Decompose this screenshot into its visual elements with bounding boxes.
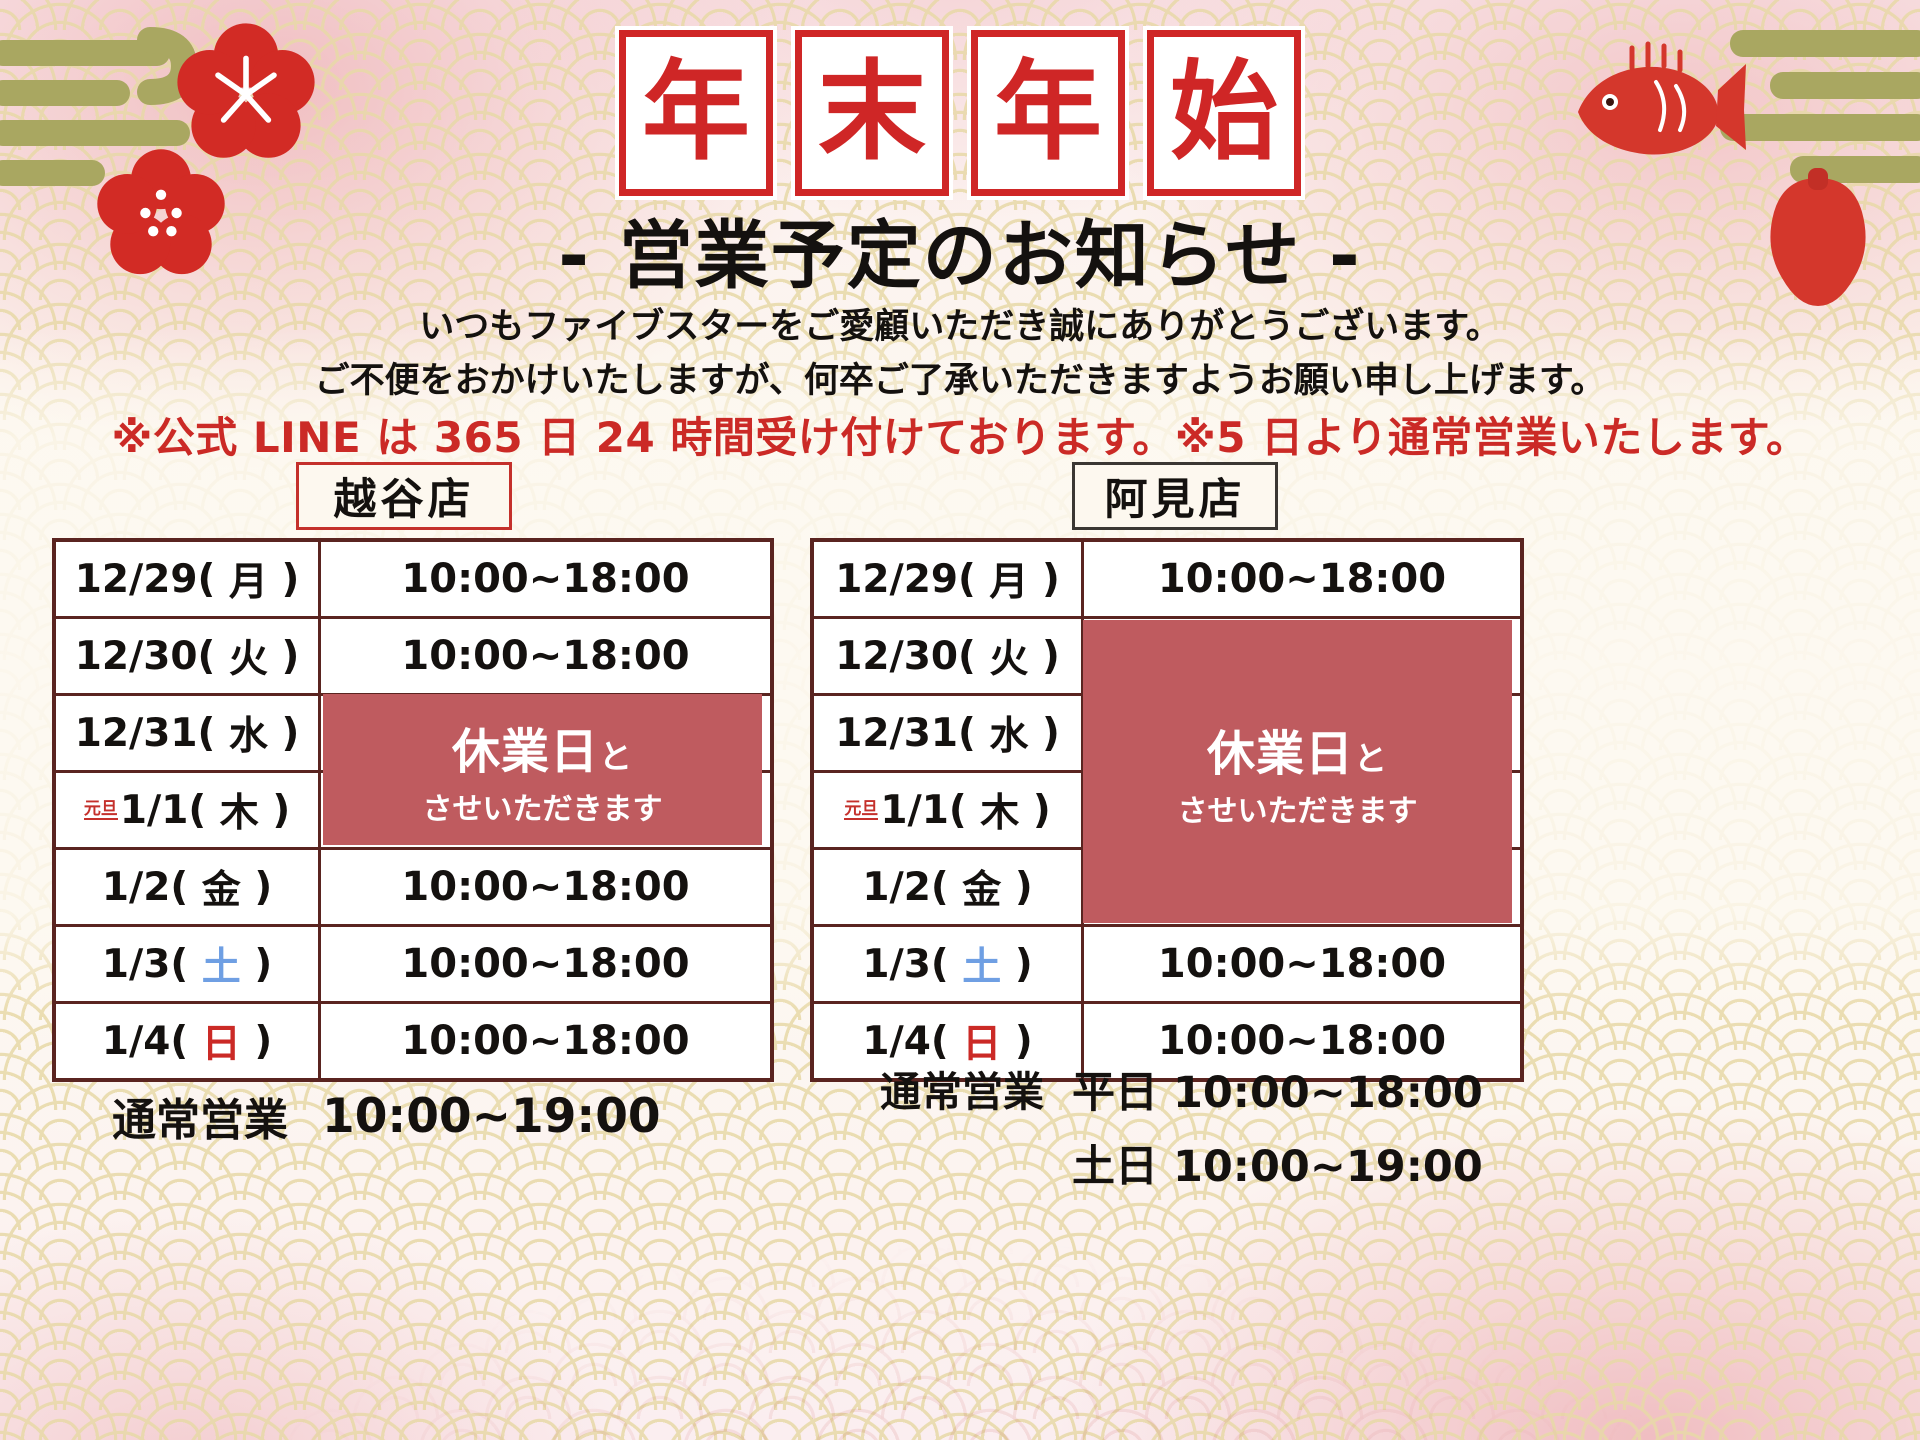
poster-title: 年 末 年 始 bbox=[0, 30, 1920, 196]
closed-sub-text: させいただきます bbox=[423, 784, 663, 828]
title-kanji-1: 年 bbox=[619, 30, 773, 196]
schedule-date-cell: 12/29( 月 ) bbox=[56, 542, 321, 616]
weekday-text: 火 bbox=[989, 628, 1028, 684]
date-text: 1/4 bbox=[862, 1019, 931, 1064]
schedule-hours-cell: 10:00~18:00 bbox=[321, 619, 770, 693]
footer-koshigaya: 通常営業 10:00~19:00 bbox=[112, 1084, 661, 1148]
gantan-badge: 元旦 bbox=[84, 801, 118, 820]
schedule-hours-cell: 10:00~18:00 bbox=[321, 542, 770, 616]
title-kanji-4-text: 始 bbox=[1170, 59, 1278, 167]
table-row: 1/3( 土 ) 10:00~18:00 bbox=[56, 927, 770, 1004]
date-text: 12/29 bbox=[835, 557, 958, 602]
schedule-date-cell: 1/3( 土 ) bbox=[814, 927, 1084, 1001]
schedule-date-cell: 12/31( 水 ) bbox=[814, 696, 1084, 770]
closed-sub-text: させいただきます bbox=[1178, 786, 1418, 830]
title-kanji-1-text: 年 bbox=[642, 59, 750, 167]
date-text: 12/29 bbox=[75, 557, 198, 602]
weekday-text: 木 bbox=[220, 782, 259, 838]
date-text: 1/2 bbox=[862, 865, 931, 910]
weekday-text: 土 bbox=[962, 936, 1001, 992]
date-text: 1/1 bbox=[120, 788, 189, 833]
weekday-text: 火 bbox=[229, 628, 268, 684]
date-text: 1/2 bbox=[102, 865, 171, 910]
weekday-text: 金 bbox=[962, 859, 1001, 915]
schedule-date-cell: 12/30( 火 ) bbox=[56, 619, 321, 693]
closed-main-label: 休業日 bbox=[1207, 726, 1354, 782]
weekday-text: 水 bbox=[989, 705, 1028, 761]
line-notice: ※公式 LINE は 365 日 24 時間受け付けております。※5 日より通常… bbox=[0, 404, 1920, 465]
schedule-hours-cell: 10:00~18:00 bbox=[321, 1004, 770, 1078]
schedule-hours-cell: 10:00~18:00 bbox=[1084, 542, 1520, 616]
weekday-text: 月 bbox=[989, 551, 1028, 607]
date-text: 1/3 bbox=[102, 942, 171, 987]
table-row: 1/3( 土 ) 10:00~18:00 bbox=[814, 927, 1520, 1004]
schedule-date-cell: 1/2( 金 ) bbox=[56, 850, 321, 924]
footer-hours-weekend: 土日 10:00~19:00 bbox=[1072, 1132, 1483, 1194]
schedule-hours-cell: 10:00~18:00 bbox=[321, 927, 770, 1001]
footer-label: 通常営業 bbox=[112, 1084, 288, 1148]
schedule-date-cell: 1/3( 土 ) bbox=[56, 927, 321, 1001]
schedule-date-cell: 12/29( 月 ) bbox=[814, 542, 1084, 616]
schedule-date-cell: 1/4( 日 ) bbox=[56, 1004, 321, 1078]
closed-notice-ami: 休業日と させいただきます bbox=[1083, 620, 1512, 923]
footer-ami: 通常営業 平日 10:00~18:00 土日 10:00~19:00 bbox=[880, 1058, 1483, 1194]
gantan-badge: 元旦 bbox=[844, 801, 878, 820]
schedule-hours-cell: 10:00~18:00 bbox=[321, 850, 770, 924]
weekday-text: 水 bbox=[229, 705, 268, 761]
closed-notice-koshigaya: 休業日と させいただきます bbox=[323, 694, 762, 845]
closed-particle: と bbox=[1354, 739, 1388, 778]
weekday-text: 日 bbox=[202, 1013, 241, 1069]
footer-hours: 10:00~19:00 bbox=[322, 1089, 661, 1144]
closed-main-text: 休業日と bbox=[1207, 714, 1388, 784]
poster-subtitle: - 営業予定のお知らせ - bbox=[0, 196, 1920, 303]
schedule-hours-cell: 10:00~18:00 bbox=[1084, 927, 1520, 1001]
store-label-ami: 阿見店 bbox=[1072, 462, 1278, 530]
schedule-date-cell: 元旦1/1( 木 ) bbox=[814, 773, 1084, 847]
date-text: 1/3 bbox=[862, 942, 931, 987]
date-text: 12/31 bbox=[75, 711, 198, 756]
store-label-koshigaya: 越谷店 bbox=[296, 462, 512, 530]
footer-label: 通常営業 bbox=[880, 1058, 1044, 1118]
closed-particle: と bbox=[599, 737, 633, 776]
schedule-date-cell: 12/30( 火 ) bbox=[814, 619, 1084, 693]
date-text: 12/30 bbox=[75, 634, 198, 679]
intro-line-2: ご不便をおかけいたしますが、何卒ご了承いただきますようお願い申し上げます。 bbox=[0, 352, 1920, 403]
weekday-text: 土 bbox=[202, 936, 241, 992]
date-text: 12/30 bbox=[835, 634, 958, 679]
schedule-date-cell: 12/31( 水 ) bbox=[56, 696, 321, 770]
table-row: 12/30( 火 ) 10:00~18:00 bbox=[56, 619, 770, 696]
title-kanji-2: 末 bbox=[795, 30, 949, 196]
table-row: 12/29( 月 ) 10:00~18:00 bbox=[56, 542, 770, 619]
weekday-text: 月 bbox=[229, 551, 268, 607]
date-text: 12/31 bbox=[835, 711, 958, 756]
weekday-text: 木 bbox=[980, 782, 1019, 838]
schedule-date-cell: 元旦1/1( 木 ) bbox=[56, 773, 321, 847]
footer-hours-stack: 平日 10:00~18:00 土日 10:00~19:00 bbox=[1072, 1058, 1483, 1194]
date-text: 1/4 bbox=[102, 1019, 171, 1064]
date-text: 1/1 bbox=[880, 788, 949, 833]
schedule-date-cell: 1/2( 金 ) bbox=[814, 850, 1084, 924]
table-row: 12/29( 月 ) 10:00~18:00 bbox=[814, 542, 1520, 619]
table-row: 1/2( 金 ) 10:00~18:00 bbox=[56, 850, 770, 927]
closed-main-text: 休業日と bbox=[452, 712, 633, 782]
closed-main-label: 休業日 bbox=[452, 724, 599, 780]
title-kanji-3: 年 bbox=[971, 30, 1125, 196]
intro-line-1: いつもファイブスターをご愛顧いただき誠にありがとうございます。 bbox=[0, 298, 1920, 349]
footer-hours-weekday: 平日 10:00~18:00 bbox=[1072, 1058, 1483, 1120]
table-row: 1/4( 日 ) 10:00~18:00 bbox=[56, 1004, 770, 1078]
title-kanji-2-text: 末 bbox=[818, 59, 926, 167]
title-kanji-4: 始 bbox=[1147, 30, 1301, 196]
title-kanji-3-text: 年 bbox=[994, 59, 1102, 167]
weekday-text: 金 bbox=[202, 859, 241, 915]
